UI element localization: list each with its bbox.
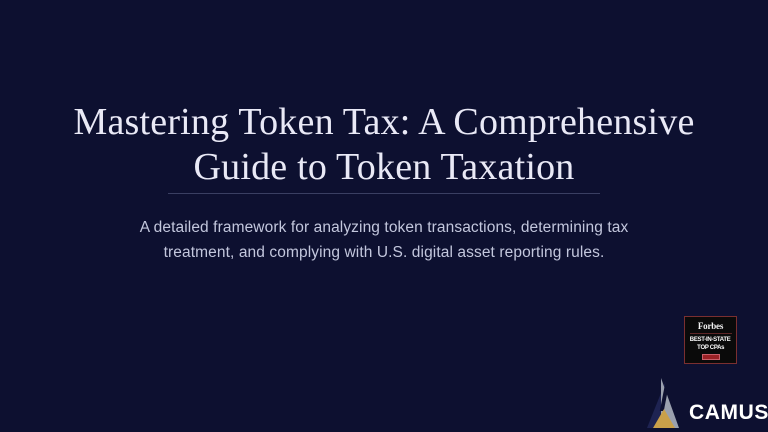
camuso-wordmark: CAMUSO (689, 402, 768, 423)
forbes-wordmark: Forbes (698, 321, 723, 331)
page-subtitle: A detailed framework for analyzing token… (84, 215, 684, 265)
forbes-award-line-1: BEST-IN-STATE (690, 336, 731, 344)
title-line-2: Guide to Token Taxation (0, 145, 768, 190)
forbes-year-pill (702, 354, 720, 360)
forbes-award-badge: Forbes BEST-IN-STATE TOP CPAs (684, 316, 737, 364)
title-line-1: Mastering Token Tax: A Comprehensive (0, 100, 768, 145)
page-title: Mastering Token Tax: A Comprehensive Gui… (0, 100, 768, 190)
title-divider (168, 193, 600, 194)
title-slide: Mastering Token Tax: A Comprehensive Gui… (0, 0, 768, 432)
subtitle-line-2: treatment, and complying with U.S. digit… (84, 240, 684, 265)
camuso-cpa-logo: CAMUSO CPA (641, 376, 768, 428)
pyramid-gold-accent (653, 409, 675, 428)
forbes-divider (690, 333, 732, 334)
subtitle-line-1: A detailed framework for analyzing token… (84, 215, 684, 240)
camuso-pyramid-icon (641, 376, 689, 428)
forbes-award-line-2: TOP CPAs (697, 344, 724, 352)
